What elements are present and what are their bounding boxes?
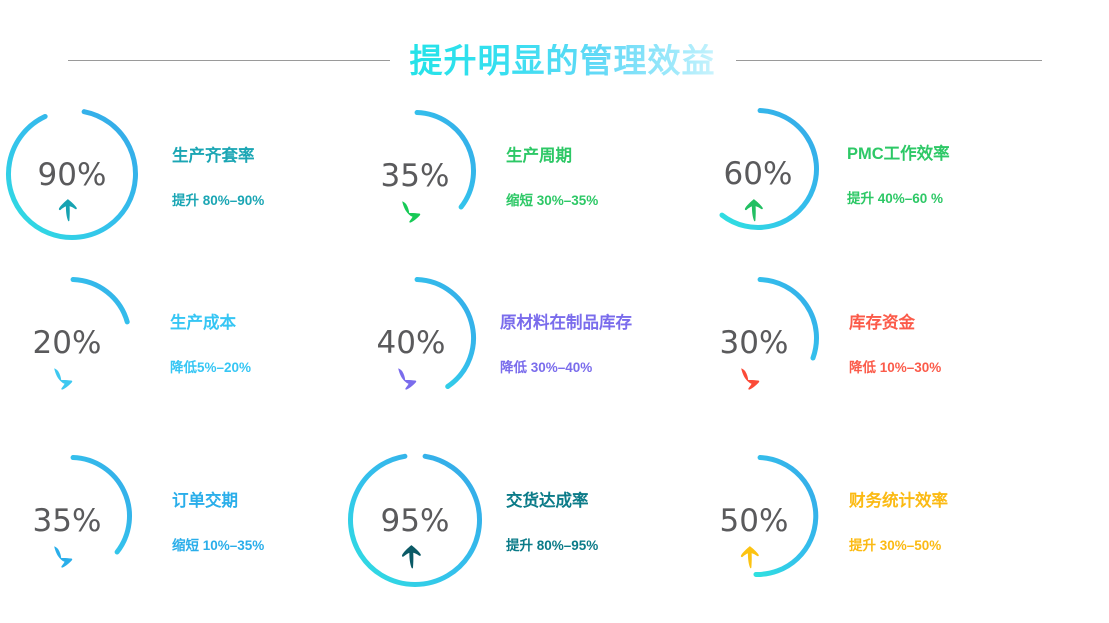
- arrow-up-icon: [400, 544, 423, 570]
- gauge-labels: PMC工作效率提升 40%–60 %: [847, 146, 950, 205]
- gauge-metric-name: 订单交期: [172, 493, 264, 510]
- gauge-card: 95%交货达成率提升 80%–95%: [348, 449, 693, 623]
- gauge-card: 20%生产成本降低5%–20%: [0, 275, 348, 449]
- gauge-metric-name: 交货达成率: [506, 493, 598, 510]
- gauge-metric-name: 财务统计效率: [849, 493, 948, 510]
- gauge-labels: 生产成本降低5%–20%: [170, 315, 251, 374]
- arrow-down-icon: [396, 367, 418, 392]
- gauge-percent-value: 95%: [348, 503, 482, 539]
- gauge-metric-name: 生产周期: [506, 148, 598, 165]
- gauge-card: 35%生产周期缩短 30%–35%: [348, 100, 693, 275]
- gauge-metric-detail: 提升 40%–60 %: [847, 192, 950, 206]
- page-title: 提升明显的管理效益: [410, 44, 716, 77]
- gauge-labels: 财务统计效率提升 30%–50%: [849, 493, 948, 552]
- gauge-labels: 生产周期缩短 30%–35%: [506, 148, 598, 207]
- arrow-up-icon: [57, 198, 79, 223]
- gauge-percent-value: 20%: [6, 325, 128, 361]
- title-divider-right: [736, 60, 1042, 61]
- gauge-metric-detail: 降低 10%–30%: [849, 361, 941, 375]
- gauge-metric-detail: 缩短 10%–35%: [172, 539, 264, 553]
- arrow-down-icon: [52, 367, 74, 392]
- gauge-metric-detail: 提升 80%–90%: [172, 194, 264, 208]
- gauge-card: 50%财务统计效率提升 30%–50%: [693, 449, 1037, 623]
- gauge-labels: 订单交期缩短 10%–35%: [172, 493, 264, 552]
- gauge-metric-detail: 提升 80%–95%: [506, 539, 598, 553]
- arrow-down-icon: [739, 367, 761, 392]
- gauge-percent-value: 60%: [697, 156, 819, 192]
- gauge-percent-value: 40%: [350, 325, 472, 361]
- gauge-metric-name: 生产齐套率: [172, 148, 264, 165]
- gauge-labels: 原材料在制品库存降低 30%–40%: [500, 315, 632, 374]
- gauge-percent-value: 90%: [6, 157, 138, 193]
- gauge-labels: 生产齐套率提升 80%–90%: [172, 148, 264, 207]
- arrow-up-icon: [743, 198, 765, 223]
- gauge-metric-name: 库存资金: [849, 315, 941, 332]
- gauge-percent-value: 30%: [693, 325, 815, 361]
- gauge-card: 35%订单交期缩短 10%–35%: [0, 449, 348, 623]
- gauge-card: 40%原材料在制品库存降低 30%–40%: [348, 275, 693, 449]
- gauge-metric-name: 生产成本: [170, 315, 251, 332]
- gauge-card: 60%PMC工作效率提升 40%–60 %: [693, 100, 1037, 275]
- arrow-down-icon: [400, 200, 422, 225]
- gauge-metric-detail: 缩短 30%–35%: [506, 194, 598, 208]
- arrow-down-icon: [52, 545, 74, 570]
- gauge-metric-name: 原材料在制品库存: [500, 315, 632, 332]
- title-row: 提升明显的管理效益: [0, 36, 1109, 84]
- gauge-labels: 交货达成率提升 80%–95%: [506, 493, 598, 552]
- gauge-percent-value: 50%: [693, 503, 815, 539]
- gauge-card: 90%生产齐套率提升 80%–90%: [0, 100, 348, 275]
- gauge-metric-detail: 降低 30%–40%: [500, 361, 632, 375]
- title-divider-left: [68, 60, 390, 61]
- gauge-metric-detail: 降低5%–20%: [170, 361, 251, 375]
- gauge-labels: 库存资金降低 10%–30%: [849, 315, 941, 374]
- gauge-percent-value: 35%: [354, 158, 476, 194]
- gauge-card: 30%库存资金降低 10%–30%: [693, 275, 1037, 449]
- infographic-page: 提升明显的管理效益 90%生产齐套率提升 80%–90%35%生产周期缩短 30…: [0, 0, 1109, 623]
- arrow-up-icon: [739, 545, 761, 570]
- gauge-metric-name: PMC工作效率: [847, 146, 950, 163]
- gauge-percent-value: 35%: [6, 503, 128, 539]
- gauge-metric-detail: 提升 30%–50%: [849, 539, 948, 553]
- gauge-grid: 90%生产齐套率提升 80%–90%35%生产周期缩短 30%–35%60%PM…: [0, 100, 1109, 623]
